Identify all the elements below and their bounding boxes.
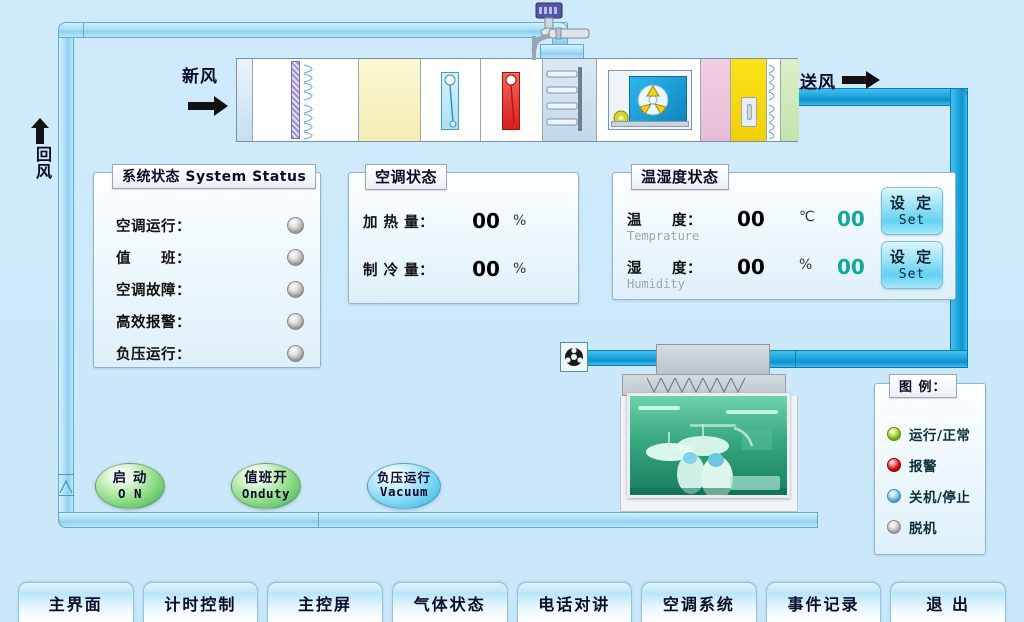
temperature-set-en: Set — [882, 213, 942, 228]
supply-duct-lower — [790, 350, 968, 368]
fan-housing-icon — [608, 70, 692, 130]
cooling-thermometer-icon — [441, 72, 459, 130]
status-label: 负压运行： — [116, 343, 191, 364]
ahu-humidifier — [543, 59, 597, 141]
control-panel-screen: 新风 送风 回风 系统状态 System Status 空调运行： 值 班： 空… — [0, 0, 1024, 622]
status-label: 值 班： — [116, 247, 191, 268]
motorized-valve-icon — [530, 2, 596, 60]
heating-value: 00 — [459, 209, 513, 233]
start-on-label-cn: 启 动 — [96, 471, 164, 487]
heating-thermometer-icon — [502, 72, 520, 130]
fresh-air-arrow-icon — [188, 95, 230, 121]
legend-led-offline — [887, 520, 901, 534]
ahu-medium-filter — [359, 59, 421, 141]
temperature-set-cn: 设 定 — [882, 192, 942, 213]
status-label: 高效报警： — [116, 311, 191, 332]
operating-room-photo — [627, 393, 790, 498]
humidity-value: 00 — [737, 255, 765, 279]
legend-item: 运行/正常 — [887, 424, 970, 444]
legend-label: 报警 — [909, 455, 937, 475]
return-damper-icon — [58, 474, 74, 496]
hvac-status-title: 空调状态 — [365, 164, 447, 190]
status-row: 值 班： — [116, 247, 304, 268]
temperature-set-button[interactable]: 设 定 Set — [881, 187, 943, 235]
humidity-label: 湿 度： — [627, 257, 702, 278]
legend-item: 报警 — [887, 455, 937, 475]
ahu-primary-filter — [253, 59, 359, 141]
status-row: 负压运行： — [116, 343, 304, 364]
exhaust-duct — [586, 350, 664, 366]
legend-item: 脱机 — [887, 517, 937, 537]
temperature-label: 温 度： — [627, 209, 702, 230]
tab-timer-control[interactable]: 计时控制 — [143, 582, 259, 622]
filter-mesh-icon — [291, 61, 300, 139]
humidity-set-en: Set — [882, 267, 942, 282]
return-duct-bottom — [58, 512, 320, 528]
vacuum-label-cn: 负压运行 — [368, 471, 440, 485]
temperature-unit: ℃ — [799, 209, 815, 225]
status-led-negative-pressure[interactable] — [287, 345, 304, 362]
vacuum-button[interactable]: 负压运行 Vacuum — [367, 463, 441, 509]
onduty-label-cn: 值班开 — [232, 471, 300, 487]
start-on-button[interactable]: 启 动 O N — [95, 463, 165, 509]
legend-led-run-normal — [887, 427, 901, 441]
status-label: 空调运行： — [116, 215, 191, 236]
status-led-ac-fault[interactable] — [287, 281, 304, 298]
ahu-silencer — [701, 59, 731, 141]
start-on-label-en: O N — [96, 487, 164, 501]
tab-intercom[interactable]: 电话对讲 — [517, 582, 633, 622]
supply-plenum — [656, 344, 770, 376]
ahu-coil-section — [767, 59, 781, 141]
legend-led-shutdown-stop — [887, 489, 901, 503]
return-air-arrow-icon — [30, 118, 50, 148]
legend-item: 关机/停止 — [887, 486, 970, 506]
humidity-set-cn: 设 定 — [882, 246, 942, 267]
tab-main-screen[interactable]: 主界面 — [18, 582, 134, 622]
status-led-ac-run[interactable] — [287, 217, 304, 234]
fresh-air-label: 新风 — [182, 62, 218, 87]
tab-gas-status[interactable]: 气体状态 — [392, 582, 508, 622]
legend-panel: 图 例： 运行/正常 报警 关机/停止 脱机 — [874, 383, 986, 555]
onduty-label-en: Onduty — [232, 487, 300, 501]
system-status-panel: 系统状态 System Status 空调运行： 值 班： 空调故障： 高效报警… — [93, 172, 321, 368]
humidity-setpoint: 00 — [837, 255, 865, 279]
legend-label: 关机/停止 — [909, 486, 970, 506]
onduty-button[interactable]: 值班开 Onduty — [231, 463, 301, 509]
cooling-value: 00 — [459, 257, 513, 281]
humidity-sublabel: Humidity — [627, 277, 685, 291]
ahu-outlet-section — [781, 59, 799, 141]
supply-air-arrow-icon — [842, 70, 882, 94]
cooling-unit: % — [513, 261, 526, 277]
ahu-inlet-damper — [237, 59, 253, 141]
legend-led-alarm — [887, 458, 901, 472]
humidity-set-button[interactable]: 设 定 Set — [881, 241, 943, 289]
status-row: 空调运行： — [116, 215, 304, 236]
status-label: 空调故障： — [116, 279, 191, 300]
status-led-onduty[interactable] — [287, 249, 304, 266]
return-duct-corner-tl — [58, 22, 84, 38]
legend-label: 运行/正常 — [909, 424, 970, 444]
temp-humidity-panel: 温湿度状态 温 度： Temprature 00 ℃ 00 设 定 Set 湿 … — [612, 172, 956, 300]
tab-hvac-system[interactable]: 空调系统 — [641, 582, 757, 622]
ahu-cooling-coil — [421, 59, 481, 141]
ahu-hepa-filter — [731, 59, 767, 141]
temperature-setpoint: 00 — [837, 207, 865, 231]
heating-unit: % — [513, 213, 526, 229]
access-door-icon — [741, 97, 757, 127]
return-duct-left — [58, 22, 74, 528]
return-duct-top — [72, 22, 568, 38]
ahu-heating-coil — [481, 59, 543, 141]
fan-icon — [560, 342, 588, 372]
hvac-row-cooling: 制 冷 量： 00 % — [363, 257, 567, 281]
return-air-label: 回风 — [30, 146, 54, 180]
humidity-unit: % — [799, 257, 812, 273]
status-row: 空调故障： — [116, 279, 304, 300]
tab-exit[interactable]: 退 出 — [890, 582, 1006, 622]
status-led-hepa-alarm[interactable] — [287, 313, 304, 330]
bottom-tab-bar: 主界面 计时控制 主控屏 气体状态 电话对讲 空调系统 事件记录 退 出 — [0, 578, 1024, 622]
air-handling-unit — [236, 58, 798, 142]
vacuum-label-en: Vacuum — [368, 485, 440, 499]
supply-air-label: 送风 — [800, 68, 836, 93]
hvac-status-panel: 空调状态 加 热 量： 00 % 制 冷 量： 00 % — [348, 172, 579, 304]
status-row: 高效报警： — [116, 311, 304, 332]
cooling-label: 制 冷 量： — [363, 259, 459, 280]
legend-label: 脱机 — [909, 517, 937, 537]
tab-event-log[interactable]: 事件记录 — [766, 582, 882, 622]
heating-label: 加 热 量： — [363, 211, 459, 232]
temperature-value: 00 — [737, 207, 765, 231]
ahu-fan-section — [597, 59, 701, 141]
temperature-sublabel: Temprature — [627, 229, 699, 243]
tab-main-panel[interactable]: 主控屏 — [267, 582, 383, 622]
temp-humidity-title: 温湿度状态 — [631, 164, 729, 190]
system-status-title: 系统状态 System Status — [112, 164, 316, 189]
hvac-row-heating: 加 热 量： 00 % — [363, 209, 567, 233]
return-duct-bottom-2 — [318, 512, 818, 528]
legend-title: 图 例： — [889, 374, 957, 398]
